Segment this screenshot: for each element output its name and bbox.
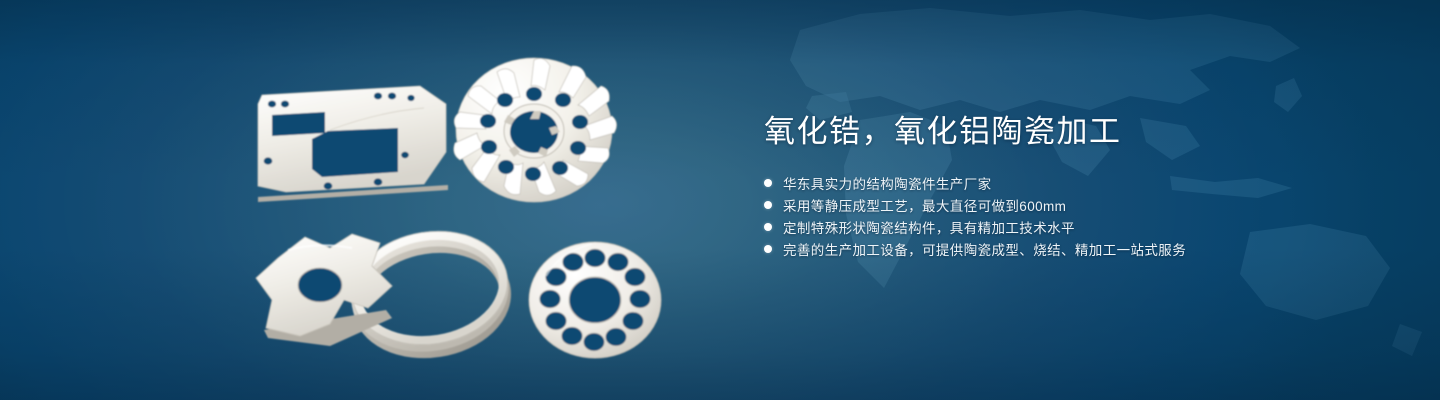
list-item: 华东具实力的结构陶瓷件生产厂家	[764, 172, 1186, 194]
list-item: 采用等静压成型工艺，最大直径可做到600mm	[764, 194, 1186, 216]
promo-banner: 氧化锆，氧化铝陶瓷加工 华东具实力的结构陶瓷件生产厂家 采用等静压成型工艺，最大…	[0, 0, 1440, 400]
list-item-label: 定制特殊形状陶瓷结构件，具有精加工技术水平	[783, 217, 1075, 237]
ceramic-plate-with-cutouts	[258, 86, 448, 202]
ceramic-valve-plate-perforated-disc	[529, 242, 661, 358]
bullet-dot-icon	[764, 223, 772, 231]
list-item-label: 完善的生产加工设备，可提供陶瓷成型、烧结、精加工一站式服务	[783, 239, 1186, 259]
page-title: 氧化锆，氧化铝陶瓷加工	[764, 113, 1122, 151]
feature-list: 华东具实力的结构陶瓷件生产厂家 采用等静压成型工艺，最大直径可做到600mm 定…	[764, 172, 1186, 260]
bullet-dot-icon	[764, 201, 772, 209]
list-item: 定制特殊形状陶瓷结构件，具有精加工技术水平	[764, 216, 1186, 238]
list-item: 完善的生产加工设备，可提供陶瓷成型、烧结、精加工一站式服务	[764, 238, 1186, 260]
ceramic-products-image	[0, 0, 740, 400]
list-item-label: 华东具实力的结构陶瓷件生产厂家	[783, 173, 992, 193]
list-item-label: 采用等静压成型工艺，最大直径可做到600mm	[783, 195, 1066, 215]
ceramic-bladed-impeller	[454, 58, 617, 202]
bullet-dot-icon	[764, 179, 772, 187]
bullet-dot-icon	[764, 245, 772, 253]
